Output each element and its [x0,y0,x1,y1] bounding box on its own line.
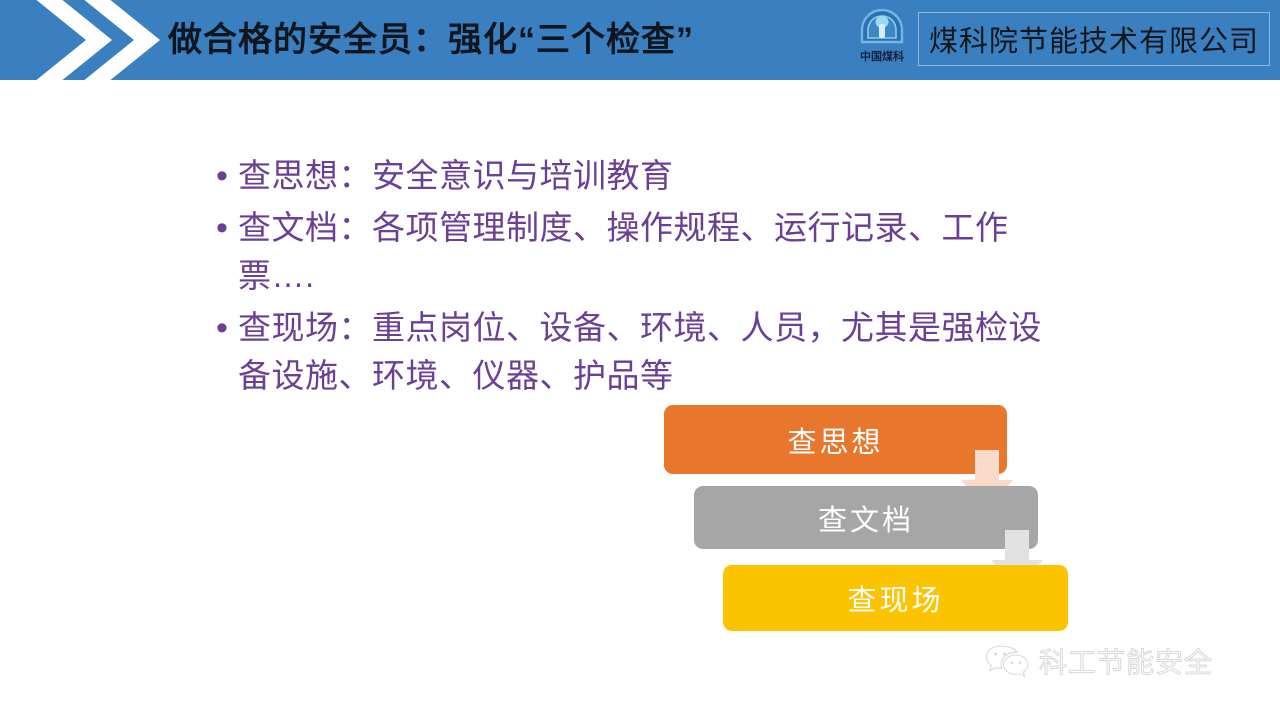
bullet-marker-icon: • [216,204,238,252]
slide: 做合格的安全员：强化“三个检查” 中国煤科 煤科院节能技术有限公司 • 查思想：… [0,0,1280,720]
double-chevron-right-icon [34,0,184,80]
bullet-text: 查思想：安全意识与培训教育 [238,152,674,200]
company-name-box: 煤科院节能技术有限公司 [918,12,1270,66]
company-name: 煤科院节能技术有限公司 [929,18,1259,60]
list-item: • 查文档：各项管理制度、操作规程、运行记录、工作票…. [216,204,1046,300]
process-step-2-label: 查文档 [818,497,914,539]
process-step-2: 查文档 [694,486,1038,549]
watermark: 科工节能安全 [985,641,1213,681]
page-title: 做合格的安全员：强化“三个检查” [168,14,694,66]
bullet-text: 查现场：重点岗位、设备、环境、人员，尤其是强检设备设施、环境、仪器、护品等 [238,304,1046,400]
wechat-icon [985,643,1031,679]
process-step-3: 查现场 [723,565,1068,631]
process-step-3-label: 查现场 [847,577,943,619]
list-item: • 查现场：重点岗位、设备、环境、人员，尤其是强检设备设施、环境、仪器、护品等 [216,304,1046,400]
header-band: 做合格的安全员：强化“三个检查” 中国煤科 煤科院节能技术有限公司 [0,0,1280,80]
brand-logo-caption: 中国煤科 [846,48,918,64]
process-step-1: 查思想 [664,405,1007,474]
bullet-marker-icon: • [216,304,238,352]
watermark-text: 科工节能安全 [1039,641,1213,681]
coal-science-emblem-icon [858,8,906,48]
bullet-marker-icon: • [216,152,238,200]
brand-logo: 中国煤科 [846,8,918,70]
list-item: • 查思想：安全意识与培训教育 [216,152,1046,200]
process-step-1-label: 查思想 [787,419,883,461]
bullet-text: 查文档：各项管理制度、操作规程、运行记录、工作票…. [238,204,1046,300]
bullet-list: • 查思想：安全意识与培训教育 • 查文档：各项管理制度、操作规程、运行记录、工… [216,152,1046,404]
